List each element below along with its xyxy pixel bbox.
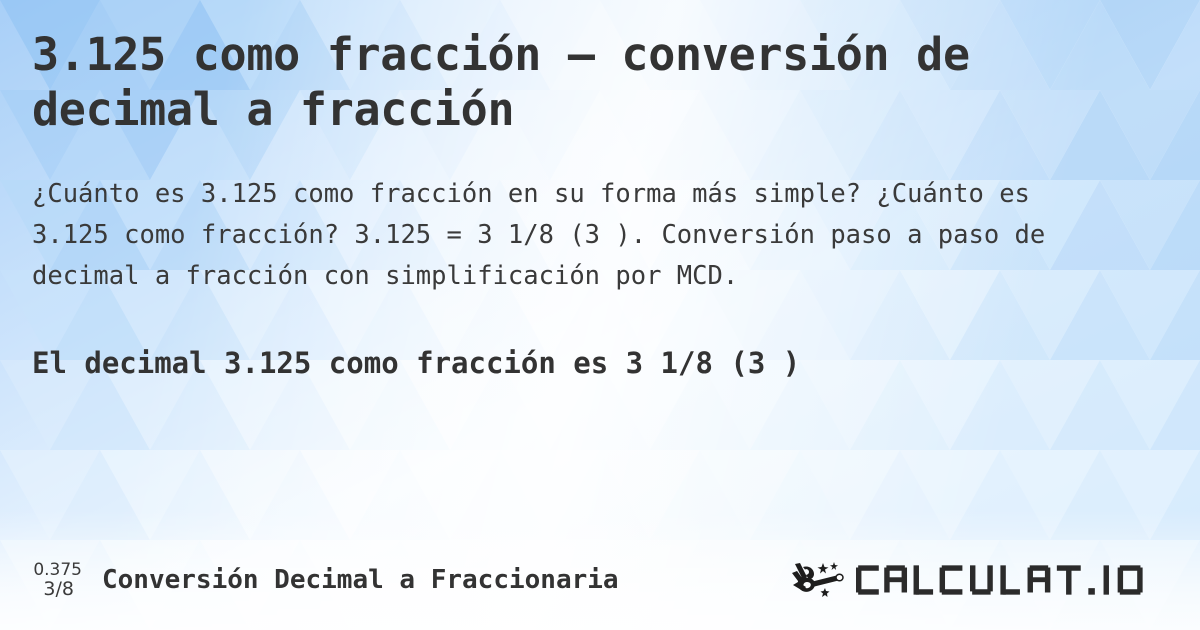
calculatio-logo[interactable] xyxy=(792,560,1182,600)
page-description: ¿Cuánto es 3.125 como fracción en su for… xyxy=(32,174,1092,296)
decimal-fraction-icon-decimal: 0.375 xyxy=(33,561,82,579)
footer-left-group: 0.375 3/8 Conversión Decimal a Fracciona… xyxy=(26,561,619,600)
footer: 0.375 3/8 Conversión Decimal a Fracciona… xyxy=(0,556,1200,604)
page-title: 3.125 como fracción – conversión de deci… xyxy=(32,28,1102,138)
og-image-canvas: 3.125 como fracción – conversión de deci… xyxy=(0,0,1200,630)
decimal-fraction-icon: 0.375 3/8 xyxy=(26,561,82,600)
hand-magic-wand-icon xyxy=(792,560,850,600)
footer-title: Conversión Decimal a Fraccionaria xyxy=(102,565,619,595)
answer-statement: El decimal 3.125 como fracción es 3 1/8 … xyxy=(32,345,1152,383)
decimal-fraction-icon-fraction: 3/8 xyxy=(43,579,82,600)
calculatio-wordmark xyxy=(856,561,1182,599)
content-area: 3.125 como fracción – conversión de deci… xyxy=(0,0,1200,630)
